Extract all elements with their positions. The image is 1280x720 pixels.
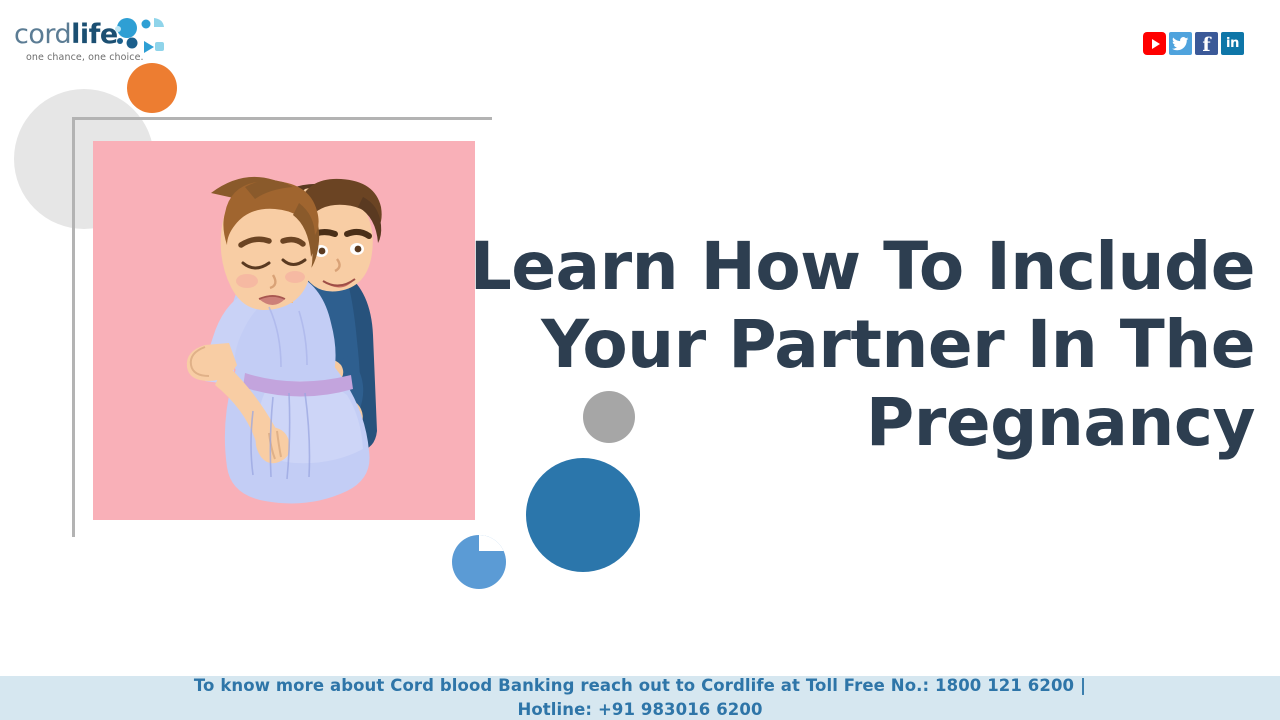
twitter-icon[interactable] — [1169, 32, 1192, 55]
frame-line-left — [72, 117, 75, 537]
contact-footer-bar: To know more about Cord blood Banking re… — [0, 676, 1280, 720]
linkedin-icon[interactable]: in — [1221, 32, 1244, 55]
headline-line-2: Your Partner In The — [320, 306, 1255, 384]
youtube-icon[interactable] — [1143, 32, 1166, 55]
youtube-play-triangle — [1152, 39, 1160, 49]
logo-word-cord: cord — [14, 19, 71, 50]
social-links-bar[interactable]: f in — [1143, 32, 1244, 55]
linkedin-in-glyph: in — [1226, 37, 1239, 50]
decorative-circle-blue-large — [526, 458, 640, 572]
cordlife-logo[interactable]: cordlife one chance, one choice. — [14, 20, 164, 68]
facebook-icon[interactable]: f — [1195, 32, 1218, 55]
decorative-circle-blue-notched — [452, 535, 506, 589]
headline-line-1: Learn How To Include — [320, 228, 1255, 306]
facebook-f-glyph: f — [1202, 36, 1210, 55]
frame-line-top — [72, 117, 492, 120]
footer-contact-text: To know more about Cord blood Banking re… — [194, 674, 1086, 720]
footer-line-1: To know more about Cord blood Banking re… — [194, 674, 1086, 698]
cordlife-dots-mark-icon — [110, 16, 166, 60]
twitter-bird-glyph — [1172, 37, 1189, 51]
footer-line-2: Hotline: +91 983016 6200 — [194, 698, 1086, 720]
headline-line-3: Pregnancy — [320, 384, 1255, 462]
slide-header: cordlife one chance, one choice. — [0, 0, 1280, 76]
page-title: Learn How To Include Your Partner In The… — [320, 228, 1255, 462]
notch-cutout — [479, 535, 506, 551]
